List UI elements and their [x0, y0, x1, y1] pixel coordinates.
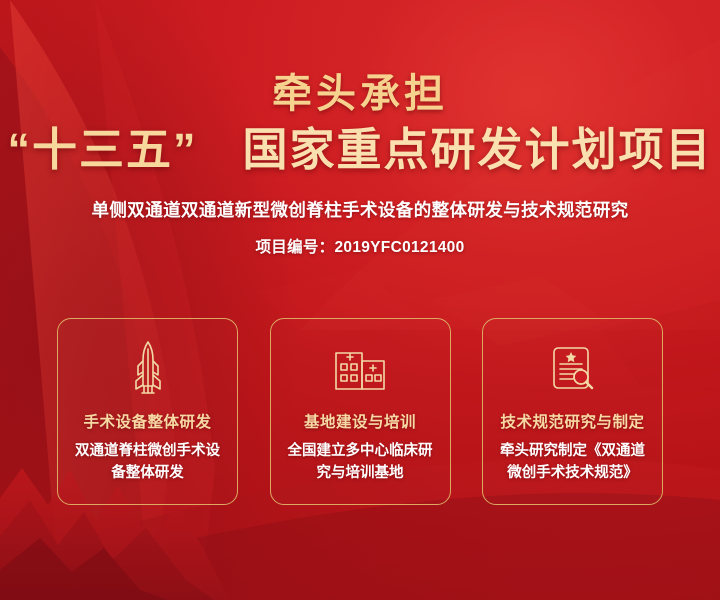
highlight-card-base-training[interactable]: 基地建设与培训 全国建立多中心临床研究与培训基地 [270, 318, 451, 505]
title-main-phrase: 国家重点研发计划项目 [243, 124, 713, 175]
highlight-card-description: 牵头研究制定《双通道微创手术技术规范》 [483, 441, 662, 485]
highlight-card-equipment-rd[interactable]: 手术设备整体研发 双通道脊柱微创手术设备整体研发 [57, 318, 238, 505]
project-number: 项目编号：2019YFC0121400 [0, 235, 720, 257]
title-line-2: “十三五” 国家重点研发计划项目 [0, 125, 720, 175]
highlight-card-title: 技术规范研究与制定 [500, 410, 644, 432]
certificate-search-icon [547, 340, 599, 396]
highlight-card-title: 基地建设与培训 [304, 410, 416, 432]
rocket-icon [127, 340, 169, 396]
poster-header: 牵头承担 “十三五” 国家重点研发计划项目 单侧双通道双通道新型微创脊柱手术设备… [0, 72, 720, 257]
title-line-1: 牵头承担 [0, 72, 720, 117]
highlight-card-list: 手术设备整体研发 双通道脊柱微创手术设备整体研发 基地建设与培训 [57, 318, 663, 505]
promo-poster: 牵头承担 “十三五” 国家重点研发计划项目 单侧双通道双通道新型微创脊柱手术设备… [0, 0, 720, 600]
highlight-card-tech-standard[interactable]: 技术规范研究与制定 牵头研究制定《双通道微创手术技术规范》 [482, 318, 663, 505]
poster-subtitle: 单侧双通道双通道新型微创脊柱手术设备的整体研发与技术规范研究 [0, 197, 720, 222]
title-quoted-phrase: “十三五” [7, 124, 197, 175]
highlight-card-title: 手术设备整体研发 [83, 410, 211, 432]
hospital-building-icon [332, 340, 388, 396]
highlight-card-description: 双通道脊柱微创手术设备整体研发 [58, 441, 237, 485]
highlight-card-description: 全国建立多中心临床研究与培训基地 [271, 441, 450, 485]
